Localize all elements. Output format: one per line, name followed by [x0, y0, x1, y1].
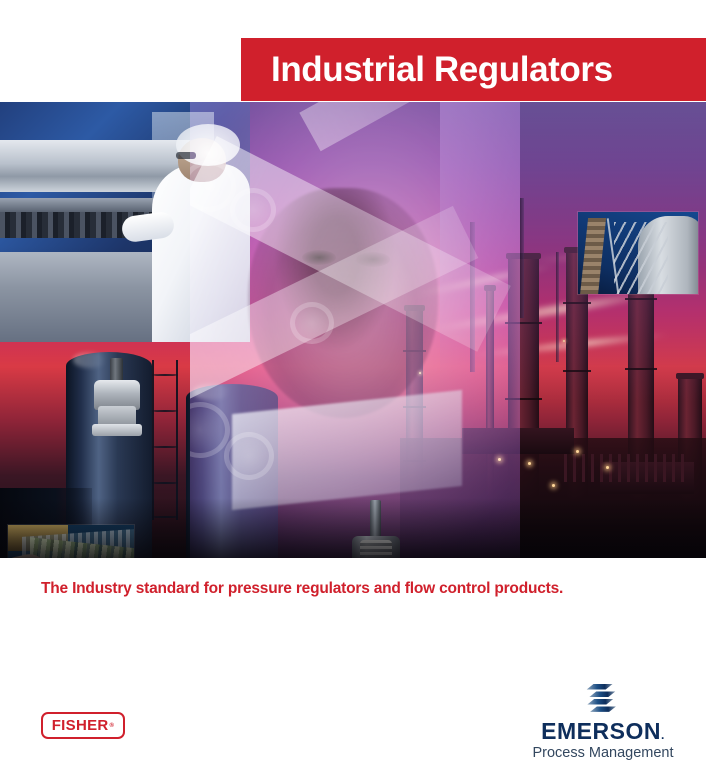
cage-ring [152, 446, 178, 448]
emerson-logo-name: EMERSON [541, 718, 661, 744]
plant-light [552, 484, 555, 487]
title-banner: Industrial Regulators [241, 38, 706, 101]
cage-ring [152, 482, 178, 484]
caged-ladder [152, 360, 178, 520]
brochure-cover-page: Industrial Regulators [0, 0, 706, 776]
emerson-logo: EMERSON. Process Management [528, 682, 678, 760]
emerson-logo-name-group: EMERSON. [528, 720, 678, 743]
cage-ring [152, 374, 178, 376]
bokeh-circle [224, 432, 274, 480]
cover-image-collage [0, 102, 706, 558]
plant-light [528, 462, 531, 465]
fisher-logo-text-group: FISHER ® [52, 717, 115, 734]
tagline: The Industry standard for pressure regul… [41, 580, 563, 598]
tank-stairs-inset-photo [578, 212, 698, 294]
collage-bottom-shading [0, 498, 706, 558]
emerson-chevron-bars-icon [586, 682, 620, 716]
cage-ring [152, 410, 178, 412]
fisher-logo: FISHER ® [41, 712, 125, 739]
pipe-rack [564, 454, 684, 482]
fisher-logo-name: FISHER [52, 717, 109, 734]
operator-portrait-montage [190, 102, 520, 558]
inset-stairway [614, 222, 668, 294]
plant-light [576, 450, 579, 453]
emerson-logo-tagline: Process Management [528, 746, 678, 761]
structure-pole [520, 198, 524, 318]
registered-trademark-icon: ® [110, 723, 115, 729]
sanitary-regulator-product [84, 358, 150, 440]
page-title: Industrial Regulators [241, 50, 613, 90]
structure-pole [556, 252, 559, 362]
plant-light [606, 466, 609, 469]
emerson-trademark-dot: . [661, 728, 665, 742]
regulator-flange [92, 424, 142, 436]
